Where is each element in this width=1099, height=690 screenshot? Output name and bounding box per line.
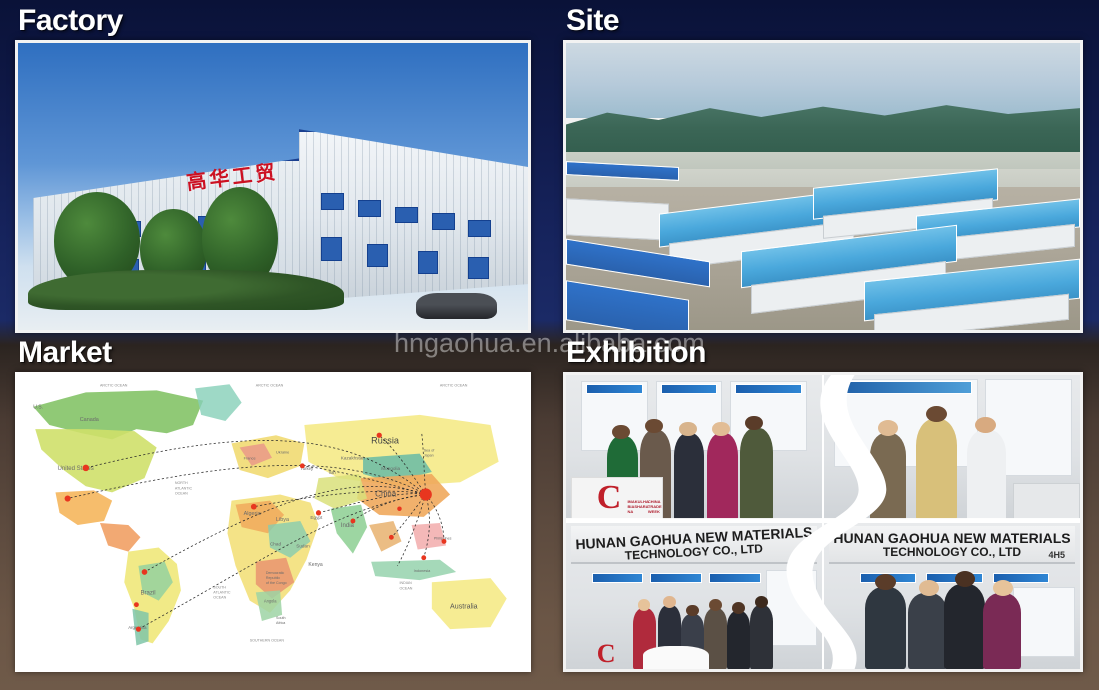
trade-week-logo-sub2: CHINA TRADE WEEK [648,499,662,514]
svg-text:of the Congo: of the Congo [266,581,287,585]
exhibition-person-head [638,599,651,611]
factory-hedge [28,270,344,310]
svg-text:Angola: Angola [264,599,277,604]
factory-title-wrap: Factory [18,6,123,36]
svg-text:SOUTHERN OCEAN: SOUTHERN OCEAN [250,638,285,642]
svg-text:Africa: Africa [276,621,286,625]
booth-poster-header [586,384,642,394]
exhibition-cell-bottom-left: HUNAN GAOHUA NEW MATERIALS TECHNOLOGY CO… [566,523,822,669]
booth-poster-header [709,573,760,583]
svg-text:U.S.: U.S. [33,405,43,411]
factory-window [367,244,388,268]
svg-text:Russia: Russia [371,435,400,445]
booth-counter [1013,483,1080,521]
svg-text:France: France [244,457,256,461]
factory-parked-car [416,293,498,319]
booth-poster-header [650,573,701,583]
svg-text:Australia: Australia [450,603,478,611]
svg-text:Egypt: Egypt [310,515,323,520]
site-title-wrap: Site [566,6,619,36]
exhibition-person-head [663,596,676,608]
exhibition-title: Exhibition [566,338,706,368]
svg-text:Japan: Japan [424,454,434,458]
site-photo [566,43,1080,330]
site-title: Site [566,6,619,36]
factory-window [395,207,418,224]
exhibition-grid: C IMAKULHA BIASHARA NA CHINA TRADE WEEK [566,375,1080,669]
svg-text:Kazakhstan: Kazakhstan [341,456,366,461]
exhibition-person [674,433,705,521]
booth-sign-line2: TECHNOLOGY CO., LTD [829,545,1075,559]
market-photo-frame: ARCTIC OCEAN ARCTIC OCEAN ARCTIC OCEAN N… [15,372,531,672]
world-map-svg: ARCTIC OCEAN ARCTIC OCEAN ARCTIC OCEAN N… [15,372,531,672]
svg-text:Republic: Republic [266,576,280,580]
exhibition-cell-bottom-right: HUNAN GAOHUA NEW MATERIALS TECHNOLOGY CO… [824,523,1080,669]
exhibition-person-head [926,406,946,422]
svg-text:Sea of: Sea of [424,449,435,453]
market-map: ARCTIC OCEAN ARCTIC OCEAN ARCTIC OCEAN N… [15,372,531,672]
svg-text:Indonesia: Indonesia [414,569,432,573]
booth-poster-header [592,573,643,583]
exhibition-collage: C IMAKULHA BIASHARA NA CHINA TRADE WEEK [566,375,1080,669]
site-sky [566,43,1080,118]
exhibition-person-head [875,574,895,590]
trade-week-logo: C [597,639,616,669]
svg-text:OCEAN: OCEAN [175,491,188,495]
booth-number: 4H5 [1049,550,1066,560]
exhibition-person-head [975,417,995,433]
exhibition-photo-frame: C IMAKULHA BIASHARA NA CHINA TRADE WEEK [563,372,1083,672]
factory-title: Factory [18,6,123,36]
factory-window [321,237,342,261]
exhibition-person-head [709,599,722,611]
svg-text:Algeria: Algeria [244,511,262,517]
exhibition-person-head [755,596,768,608]
market-title: Market [18,338,112,368]
exhibition-person-head [612,425,630,440]
exhibition-person [865,587,906,669]
exhibition-title-wrap: Exhibition [566,338,706,368]
exhibition-person [870,433,906,521]
factory-window [468,220,491,237]
svg-text:Iran: Iran [329,470,336,475]
exhibition-person-head [712,422,730,437]
exhibition-person [740,428,773,521]
booth-poster [1013,587,1074,657]
factory-window [358,200,381,217]
booth-signboard: HUNAN GAOHUA NEW MATERIALS TECHNOLOGY CO… [571,526,817,564]
booth-table [643,646,710,669]
exhibition-person [727,611,750,669]
svg-text:Ukraine: Ukraine [276,451,289,455]
svg-text:OCEAN: OCEAN [213,596,226,600]
exhibition-person [967,430,1005,521]
factory-window [418,251,439,275]
exhibition-person [983,593,1021,669]
svg-text:Brazil: Brazil [140,589,155,596]
exhibition-cell-top-right [824,375,1080,521]
svg-text:Libya: Libya [276,517,290,523]
svg-text:Kenya: Kenya [308,562,323,568]
exhibition-person [750,605,773,669]
svg-text:Chad: Chad [270,541,281,546]
svg-text:ARCTIC OCEAN: ARCTIC OCEAN [256,383,284,387]
trade-week-logo: C [597,479,622,517]
svg-text:ATLANTIC: ATLANTIC [213,590,231,594]
svg-text:Democratic: Democratic [266,571,285,575]
factory-photo-frame: 高华工贸 [15,40,531,333]
svg-text:ATLANTIC: ATLANTIC [175,486,193,490]
svg-text:OCEAN: OCEAN [399,586,412,590]
booth-poster [766,570,817,646]
promo-banner: Factory [0,0,1099,690]
factory-window [468,257,489,279]
trade-week-logo-sub: IMAKULHA BIASHARA NA [627,499,648,514]
svg-text:SOUTH: SOUTH [213,585,226,589]
site-wall [566,198,669,241]
svg-text:Canada: Canada [80,417,100,423]
exhibition-cell-top-left: C IMAKULHA BIASHARA NA CHINA TRADE WEEK [566,375,822,521]
market-title-wrap: Market [18,338,112,368]
booth-poster-header [735,384,802,394]
site-photo-frame [563,40,1083,333]
svg-text:South: South [276,616,285,620]
exhibition-person [707,433,738,521]
booth-poster-header [661,384,717,394]
svg-text:INDIAN: INDIAN [399,581,412,585]
svg-text:NORTH: NORTH [175,481,188,485]
booth-poster-header [839,381,972,394]
svg-text:ARCTIC OCEAN: ARCTIC OCEAN [100,383,128,387]
exhibition-person [908,593,946,669]
svg-text:ARCTIC OCEAN: ARCTIC OCEAN [440,383,468,387]
factory-window [432,213,455,230]
booth-signboard: HUNAN GAOHUA NEW MATERIALS TECHNOLOGY CO… [829,526,1075,564]
exhibition-person [916,419,957,521]
exhibition-person-head [732,602,745,614]
factory-window [321,193,344,210]
exhibition-person-head [679,422,697,437]
market-hub-marker [420,488,432,500]
factory-photo: 高华工贸 [18,43,528,330]
svg-text:Sudan: Sudan [296,543,310,548]
exhibition-person-head [919,580,939,596]
exhibition-person [944,584,985,669]
